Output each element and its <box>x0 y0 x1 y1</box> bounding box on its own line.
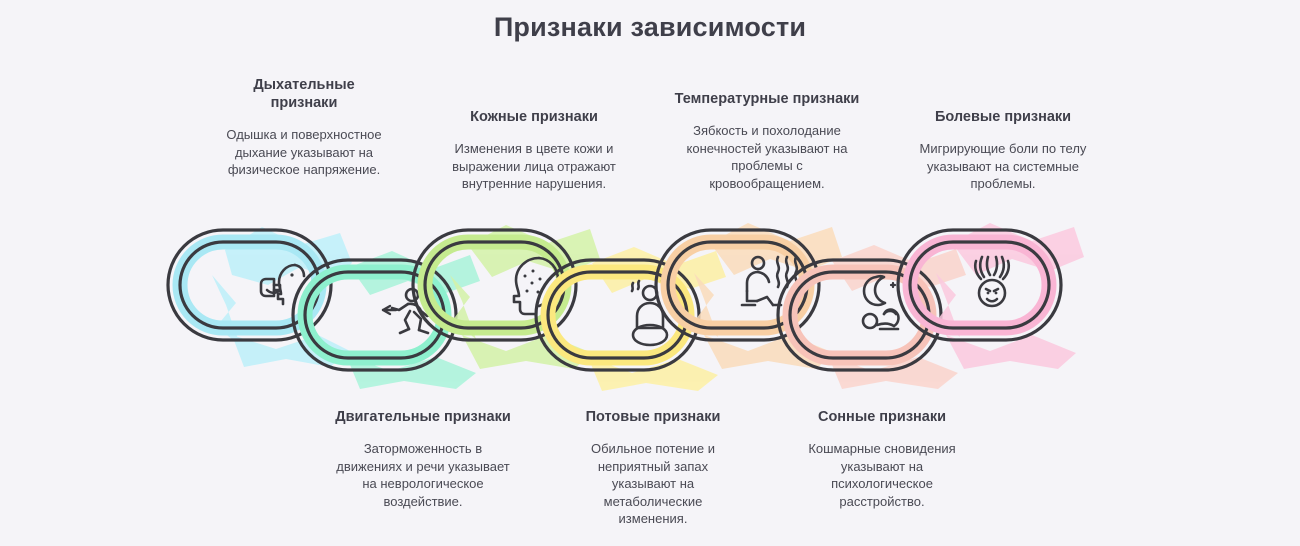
label-block-sleep: Сонные признаки Кошмарные сновидения ука… <box>792 408 972 510</box>
label-desc-respiratory: Одышка и поверхностное дыхание указывают… <box>218 126 390 179</box>
label-desc-temperature: Зябкость и похолодание конечностей указы… <box>672 122 862 192</box>
label-title-motor: Двигательные признаки <box>333 408 513 426</box>
label-title-sweat: Потовые признаки <box>573 408 733 426</box>
label-desc-pain: Мигрирующие боли по телу указывают на си… <box>912 140 1094 193</box>
chain-link-sleep[interactable] <box>778 245 966 389</box>
label-desc-motor: Заторможенность в движениях и речи указы… <box>333 440 513 510</box>
label-desc-sweat: Обильное потение и неприятный запах указ… <box>573 440 733 528</box>
label-block-temperature: Температурные признаки Зябкость и похоло… <box>672 90 862 192</box>
label-title-respiratory: Дыхательные признаки <box>218 76 390 112</box>
label-desc-sleep: Кошмарные сновидения указывают на психол… <box>792 440 972 510</box>
label-desc-skin: Изменения в цвете кожи и выражении лица … <box>443 140 625 193</box>
label-block-skin: Кожные признаки Изменения в цвете кожи и… <box>443 108 625 193</box>
label-title-pain: Болевые признаки <box>912 108 1094 126</box>
page-title: Признаки зависимости <box>0 12 1300 43</box>
infographic-page: Признаки зависимости Дыхательные признак… <box>0 0 1300 546</box>
label-title-skin: Кожные признаки <box>443 108 625 126</box>
label-title-temperature: Температурные признаки <box>672 90 862 108</box>
label-title-sleep: Сонные признаки <box>792 408 972 426</box>
chain-diagram <box>0 215 1300 395</box>
label-block-respiratory: Дыхательные признаки Одышка и поверхност… <box>218 76 390 179</box>
label-block-sweat: Потовые признаки Обильное потение и непр… <box>573 408 733 528</box>
label-block-motor: Двигательные признаки Заторможенность в … <box>333 408 513 510</box>
label-block-pain: Болевые признаки Мигрирующие боли по тел… <box>912 108 1094 193</box>
moon-sleeper-icon <box>863 276 898 329</box>
